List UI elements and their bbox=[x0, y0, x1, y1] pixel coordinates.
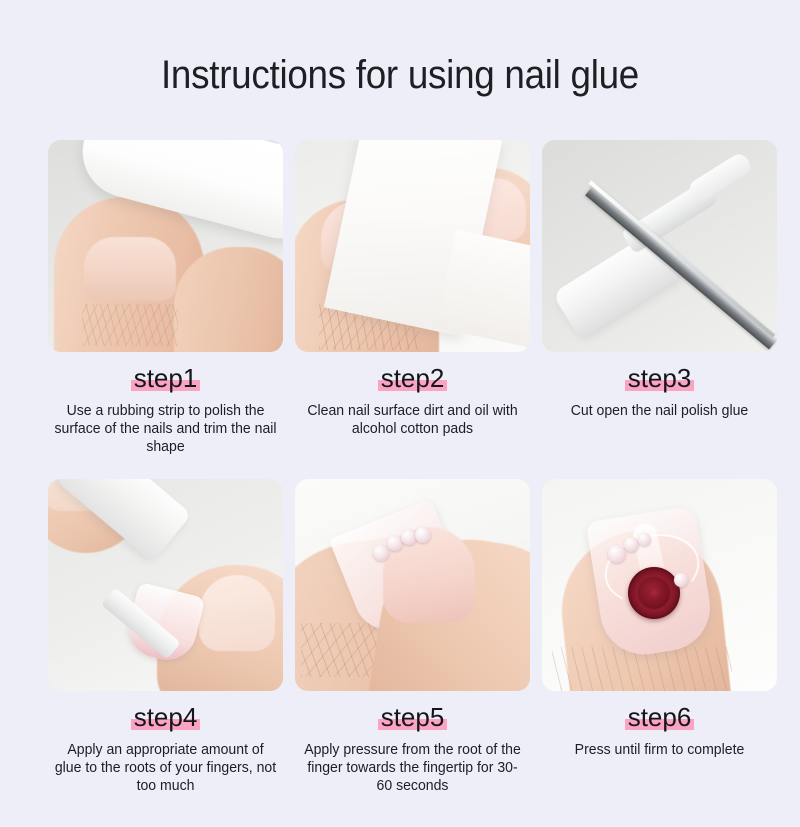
buffing-strip-illustration bbox=[48, 140, 283, 352]
step-card-5: step5 Apply pressure from the root of th… bbox=[295, 479, 530, 795]
step-3-label-wrap: step3 bbox=[542, 364, 777, 394]
pearl-bead-icon bbox=[638, 533, 651, 546]
step-5-photo bbox=[295, 479, 530, 691]
step-3-label-text: step3 bbox=[628, 363, 692, 393]
step-5-label-wrap: step5 bbox=[295, 703, 530, 733]
step-2-label-text: step2 bbox=[381, 363, 445, 393]
step-card-3: step3 Cut open the nail polish glue bbox=[542, 140, 777, 456]
step-6-label: step6 bbox=[626, 703, 694, 731]
step-2-description: Clean nail surface dirt and oil with alc… bbox=[299, 402, 527, 438]
step-2-photo bbox=[295, 140, 530, 352]
step-1-label-text: step1 bbox=[134, 363, 198, 393]
cut-glue-tube-illustration bbox=[542, 140, 777, 352]
cotton-pad-illustration bbox=[295, 140, 530, 352]
step-4-label: step4 bbox=[132, 703, 200, 731]
step-6-label-text: step6 bbox=[628, 702, 692, 732]
step-1-description: Use a rubbing strip to polish the surfac… bbox=[52, 402, 280, 456]
step-5-description: Apply pressure from the root of the fing… bbox=[299, 741, 527, 795]
pearl-bead-icon bbox=[624, 537, 639, 552]
step-1-photo bbox=[48, 140, 283, 352]
step-4-label-text: step4 bbox=[134, 702, 198, 732]
step-3-description: Cut open the nail polish glue bbox=[546, 402, 774, 420]
step-3-photo bbox=[542, 140, 777, 352]
pearl-bead-icon bbox=[608, 545, 626, 563]
step-1-label-wrap: step1 bbox=[48, 364, 283, 394]
pearl-bead-icon bbox=[674, 573, 688, 587]
step-card-4: step4 Apply an appropriate amount of glu… bbox=[48, 479, 283, 795]
step-4-photo bbox=[48, 479, 283, 691]
pearl-bead-icon bbox=[415, 527, 431, 543]
finished-nail-illustration bbox=[542, 479, 777, 691]
step-2-label: step2 bbox=[379, 364, 447, 392]
step-1-label: step1 bbox=[132, 364, 200, 392]
step-4-description: Apply an appropriate amount of glue to t… bbox=[52, 741, 280, 795]
steps-grid: step1 Use a rubbing strip to polish the … bbox=[48, 140, 752, 795]
step-card-6: step6 Press until firm to complete bbox=[542, 479, 777, 795]
step-4-label-wrap: step4 bbox=[48, 703, 283, 733]
step-6-photo bbox=[542, 479, 777, 691]
press-nail-illustration bbox=[295, 479, 530, 691]
pearl-bead-icon bbox=[373, 545, 389, 561]
step-card-2: step2 Clean nail surface dirt and oil wi… bbox=[295, 140, 530, 456]
step-5-label: step5 bbox=[379, 703, 447, 731]
instructions-page: Instructions for using nail glue step1 bbox=[0, 27, 800, 827]
step-6-description: Press until firm to complete bbox=[546, 741, 774, 759]
step-2-label-wrap: step2 bbox=[295, 364, 530, 394]
page-title: Instructions for using nail glue bbox=[32, 27, 768, 95]
step-6-label-wrap: step6 bbox=[542, 703, 777, 733]
step-card-1: step1 Use a rubbing strip to polish the … bbox=[48, 140, 283, 456]
apply-glue-illustration bbox=[48, 479, 283, 691]
step-5-label-text: step5 bbox=[381, 702, 445, 732]
step-3-label: step3 bbox=[626, 364, 694, 392]
rose-decoration-icon bbox=[628, 567, 680, 619]
